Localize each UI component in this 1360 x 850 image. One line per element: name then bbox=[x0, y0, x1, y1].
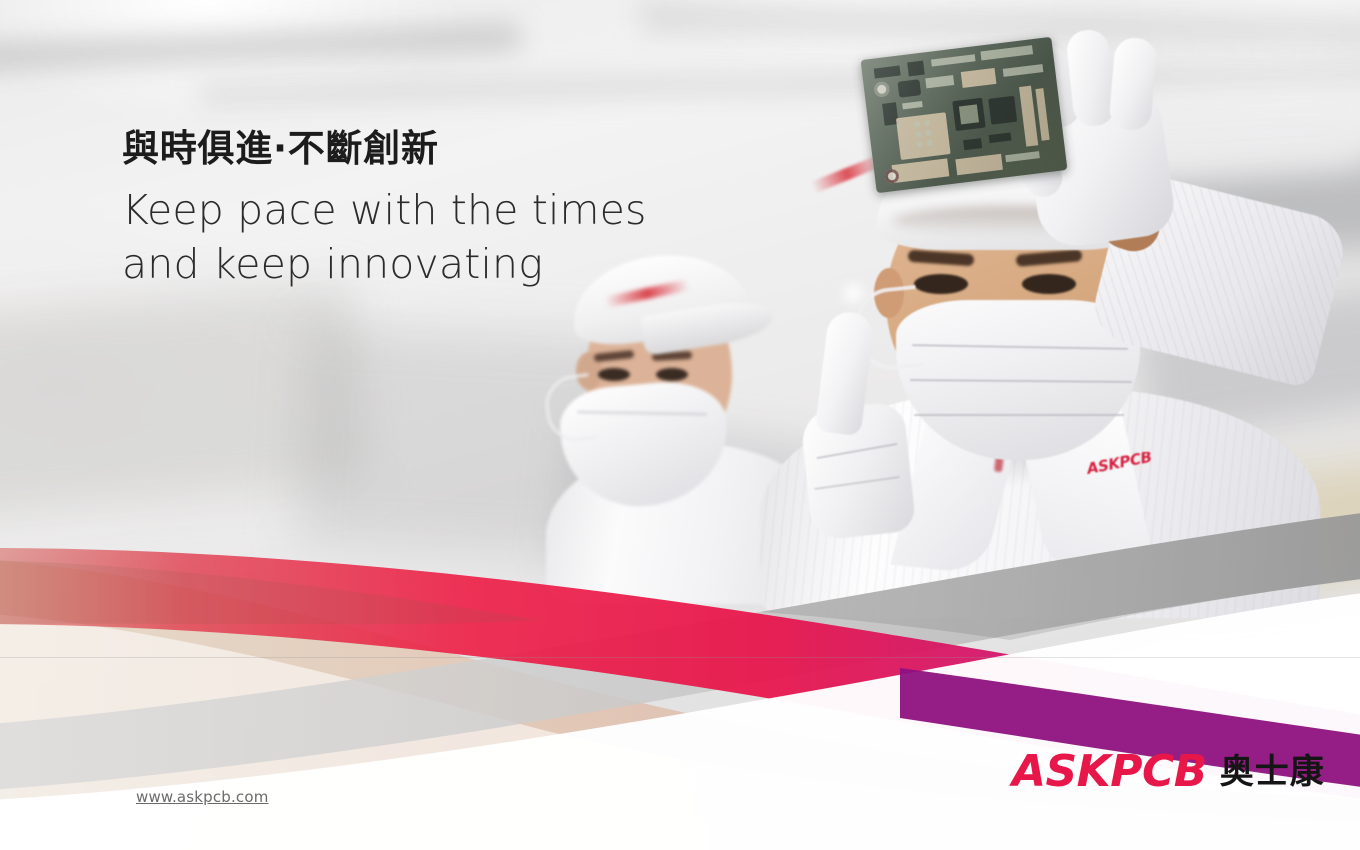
headline-chinese: 與時俱進·不斷創新 bbox=[122, 126, 742, 171]
headline-block: 與時俱進·不斷創新 Keep pace with the times and k… bbox=[122, 126, 742, 291]
headline-english-line2: and keep innovating bbox=[122, 237, 742, 291]
divider-line bbox=[0, 657, 1360, 658]
brand-wordmark: ASKPCB bbox=[1012, 750, 1207, 794]
headline-english-line1: Keep pace with the times bbox=[122, 183, 742, 237]
website-link[interactable]: www.askpcb.com bbox=[136, 788, 269, 806]
poster-canvas: ASKPCB bbox=[0, 0, 1360, 850]
brand-logo[interactable]: ASKPCB 奥士康 bbox=[1012, 750, 1325, 794]
brand-chinese-name: 奥士康 bbox=[1220, 755, 1325, 789]
